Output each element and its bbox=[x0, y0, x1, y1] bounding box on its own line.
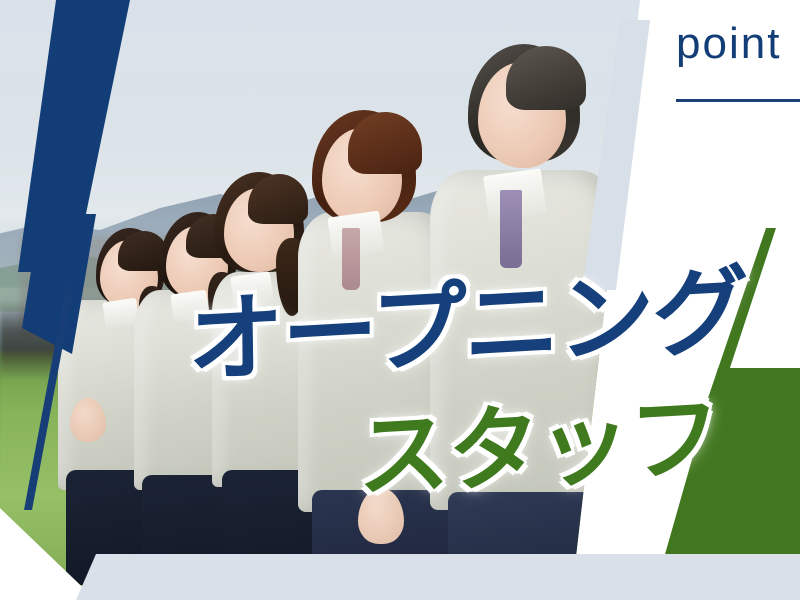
hair-front bbox=[348, 112, 422, 174]
hair-front bbox=[506, 46, 586, 110]
necktie bbox=[500, 190, 522, 268]
point-label: point bbox=[676, 22, 781, 66]
bottom-accent-band bbox=[0, 554, 800, 600]
headline-line-2: スタッフ bbox=[358, 392, 718, 504]
recruitment-banner: point オープニング スタッフ bbox=[0, 0, 800, 600]
headline-line-1: オープニング bbox=[188, 262, 746, 389]
point-underline-rule bbox=[676, 99, 800, 102]
hand bbox=[70, 398, 106, 442]
